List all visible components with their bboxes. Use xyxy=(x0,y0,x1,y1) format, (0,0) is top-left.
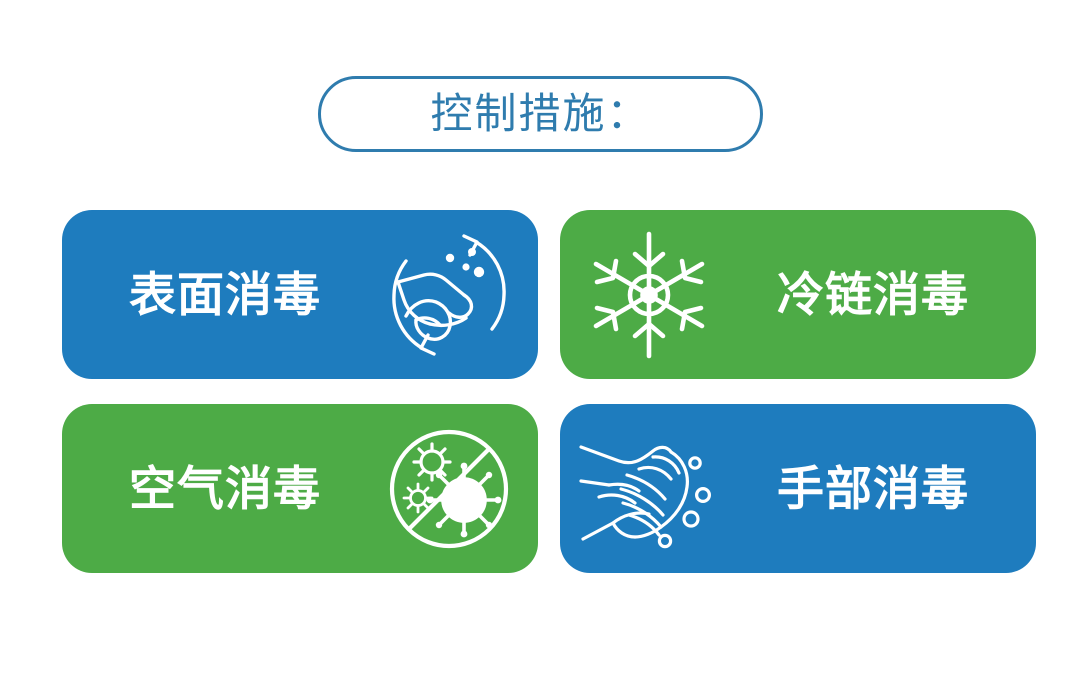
handwashing-icon xyxy=(574,416,724,562)
card-label: 空气消毒 xyxy=(76,465,374,512)
card-label: 表面消毒 xyxy=(76,271,374,318)
surface-disinfection-icon xyxy=(374,222,524,368)
card-surface-disinfection[interactable]: 表面消毒 xyxy=(62,210,538,379)
page-title: 控制措施： xyxy=(430,93,650,135)
card-cold-chain-disinfection[interactable]: 冷链消毒 xyxy=(560,210,1036,379)
page-title-pill: 控制措施： xyxy=(318,76,763,152)
card-air-disinfection[interactable]: 空气消毒 xyxy=(62,404,538,573)
card-label: 冷链消毒 xyxy=(724,271,1022,318)
no-virus-icon xyxy=(374,416,524,562)
card-label: 手部消毒 xyxy=(724,465,1022,512)
snowflake-icon xyxy=(574,222,724,368)
card-hand-disinfection[interactable]: 手部消毒 xyxy=(560,404,1036,573)
control-measures-grid: 表面消毒 xyxy=(62,210,1036,573)
